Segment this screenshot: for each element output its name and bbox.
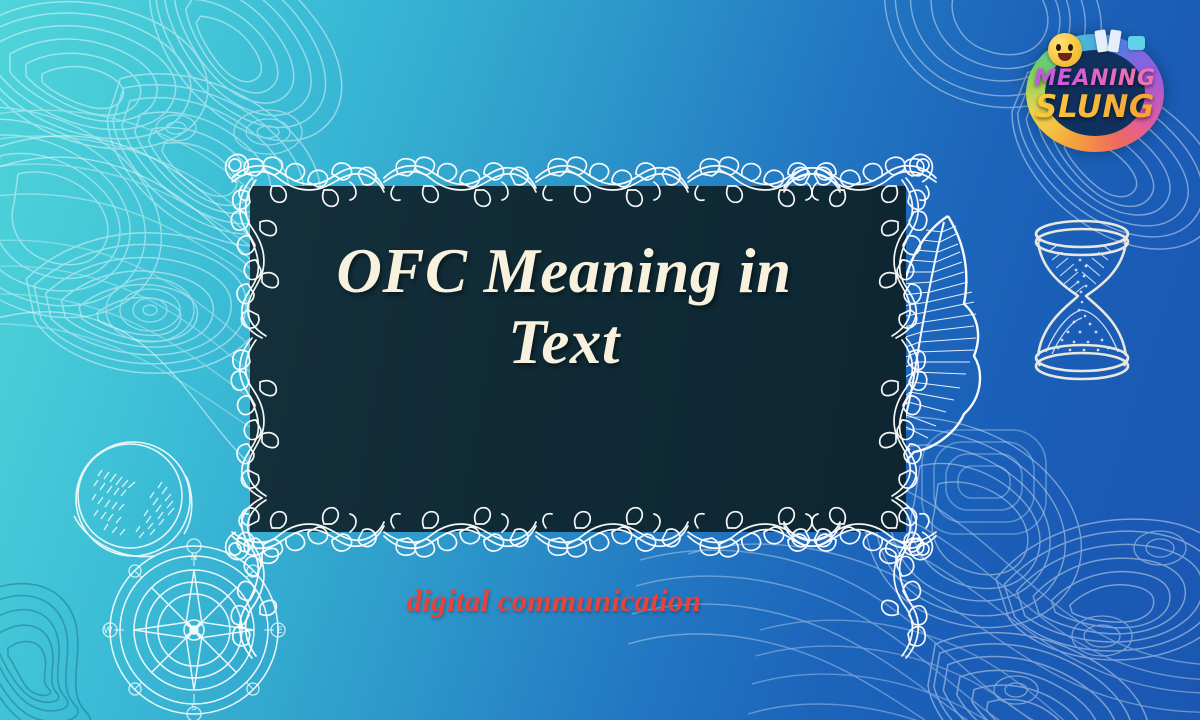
emoji-eye-left xyxy=(1056,44,1061,51)
book-page-right xyxy=(1107,29,1121,52)
emoji-eye-right xyxy=(1068,44,1073,51)
page-title: OFC Meaning in Text xyxy=(258,236,870,377)
title-line-2: Text xyxy=(258,307,870,378)
logo-word-slung: SLUNG xyxy=(1012,91,1178,124)
subtitle-text: digital communication xyxy=(0,583,1108,619)
site-logo[interactable]: MEANING SLUNG xyxy=(1012,24,1178,158)
smiling-emoji-icon xyxy=(1048,33,1082,67)
open-book-icon xyxy=(1096,30,1122,52)
logo-word-meaning: MEANING xyxy=(1012,68,1178,90)
banner-image: N S E W xyxy=(0,0,1200,720)
logo-wordmark: MEANING SLUNG xyxy=(1012,68,1178,124)
emoji-mouth xyxy=(1058,53,1072,61)
title-line-1: OFC Meaning in xyxy=(258,236,870,307)
chat-bubble-icon xyxy=(1128,36,1145,50)
